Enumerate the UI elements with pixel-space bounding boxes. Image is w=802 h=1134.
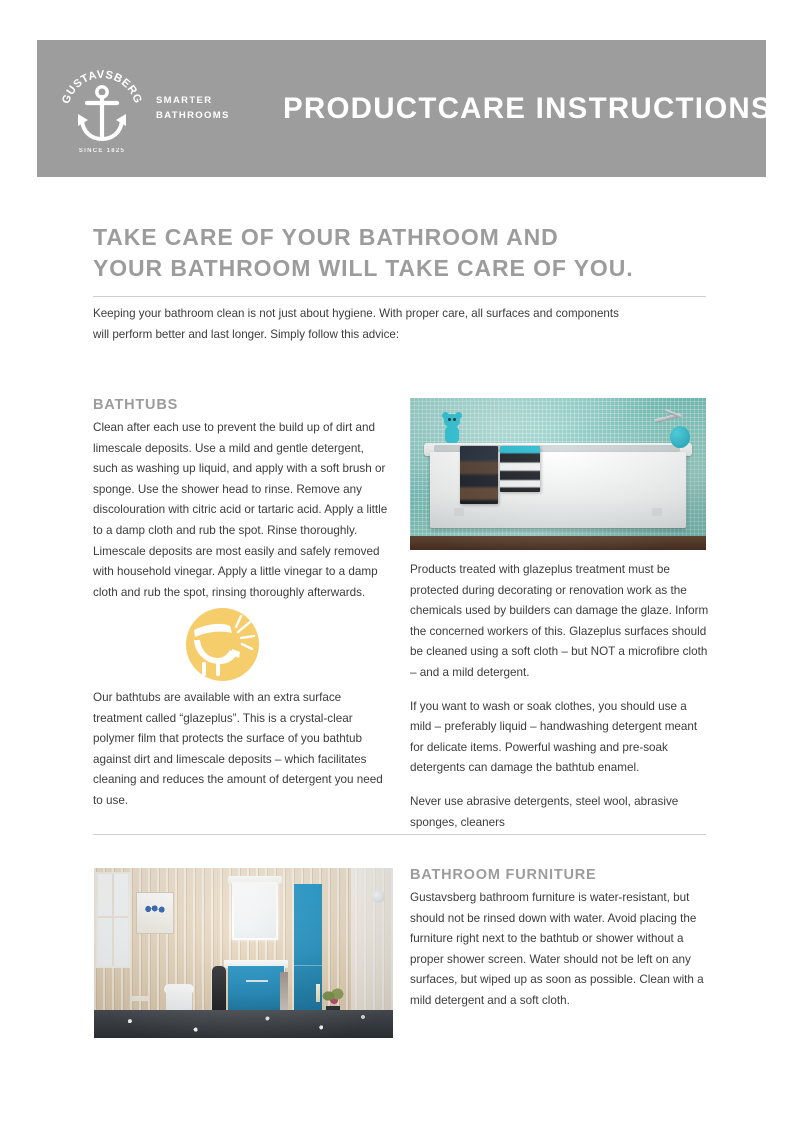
divider-top bbox=[93, 296, 706, 297]
hanging-towel bbox=[280, 972, 288, 1012]
wall-art bbox=[143, 903, 169, 915]
sponge-icon bbox=[670, 426, 690, 448]
candle-icon bbox=[316, 984, 320, 1002]
main-heading: TAKE CARE OF YOUR BATHROOM AND YOUR BATH… bbox=[93, 222, 733, 284]
divider-mid bbox=[93, 834, 706, 835]
vanity-unit bbox=[228, 966, 284, 1012]
gustavsberg-anchor-logo-icon: GUSTAVSBERG SINCE 1825 bbox=[56, 60, 148, 156]
bath-toy-eye-left bbox=[448, 418, 451, 421]
wall-cabinet bbox=[136, 892, 174, 934]
bath-toy-body bbox=[445, 426, 459, 443]
shower-screen bbox=[351, 868, 393, 1010]
furniture-photo-floor bbox=[94, 1010, 393, 1038]
bathtubs-paragraph-4: If you want to wash or soak clothes, you… bbox=[410, 697, 710, 779]
section-title-bathtubs: BATHTUBS bbox=[93, 396, 389, 415]
bathtub-leg-right bbox=[652, 508, 662, 516]
bathtubs-paragraph-2: Our bathtubs are available with an extra… bbox=[93, 688, 389, 812]
page-title: PRODUCTCARE INSTRUCTIONS bbox=[283, 40, 772, 177]
bath-toy-icon bbox=[442, 414, 462, 444]
main-heading-line2: YOUR BATHROOM WILL TAKE CARE OF YOU. bbox=[93, 253, 733, 284]
vanity-handle bbox=[246, 980, 268, 982]
logo-tagline-line1: SMARTER bbox=[156, 93, 230, 108]
mirror bbox=[232, 882, 278, 940]
bathtubs-column-left: BATHTUBS Clean after each use to prevent… bbox=[93, 396, 389, 603]
brand-logo: GUSTAVSBERG SINCE 1825 SMARTER BA bbox=[56, 58, 241, 158]
bath-toy-eye-right bbox=[453, 418, 456, 421]
logo-tagline: SMARTER BATHROOMS bbox=[156, 93, 230, 123]
shower-knob-icon bbox=[372, 890, 385, 903]
svg-text:SINCE 1825: SINCE 1825 bbox=[79, 148, 125, 154]
bathtub-leg-left bbox=[454, 508, 464, 516]
document-page: GUSTAVSBERG SINCE 1825 SMARTER BA bbox=[0, 0, 802, 1134]
bathtubs-column-left-lower: Our bathtubs are available with an extra… bbox=[93, 688, 389, 812]
header-bar: GUSTAVSBERG SINCE 1825 SMARTER BA bbox=[37, 40, 766, 177]
window-icon bbox=[96, 872, 130, 968]
bathroom-furniture-photo bbox=[94, 868, 393, 1038]
bathtubs-paragraph-5: Never use abrasive detergents, steel woo… bbox=[410, 792, 710, 833]
bathroom-furniture-column: BATHROOM FURNITURE Gustavsberg bathroom … bbox=[410, 866, 710, 1012]
intro-paragraph: Keeping your bathroom clean is not just … bbox=[93, 303, 633, 345]
main-heading-line1: TAKE CARE OF YOUR BATHROOM AND bbox=[93, 222, 733, 253]
section-title-bathroom-furniture: BATHROOM FURNITURE bbox=[410, 866, 710, 885]
striped-towel bbox=[500, 446, 540, 492]
bathroom-furniture-paragraph-1: Gustavsberg bathroom furniture is water-… bbox=[410, 888, 710, 1012]
dark-towel bbox=[460, 446, 498, 504]
bathtubs-column-right: Products treated with glazeplus treatmen… bbox=[410, 560, 710, 833]
bathtubs-paragraph-1: Clean after each use to prevent the buil… bbox=[93, 418, 389, 603]
bathtub-photo-floor bbox=[410, 536, 706, 550]
glazeplus-bathtub-icon bbox=[186, 608, 259, 681]
plant-leaves bbox=[322, 988, 344, 1008]
bathtub-photo bbox=[410, 398, 706, 550]
bathtubs-paragraph-3: Products treated with glazeplus treatmen… bbox=[410, 560, 710, 684]
hanging-robe bbox=[212, 966, 226, 1014]
logo-tagline-line2: BATHROOMS bbox=[156, 108, 230, 123]
